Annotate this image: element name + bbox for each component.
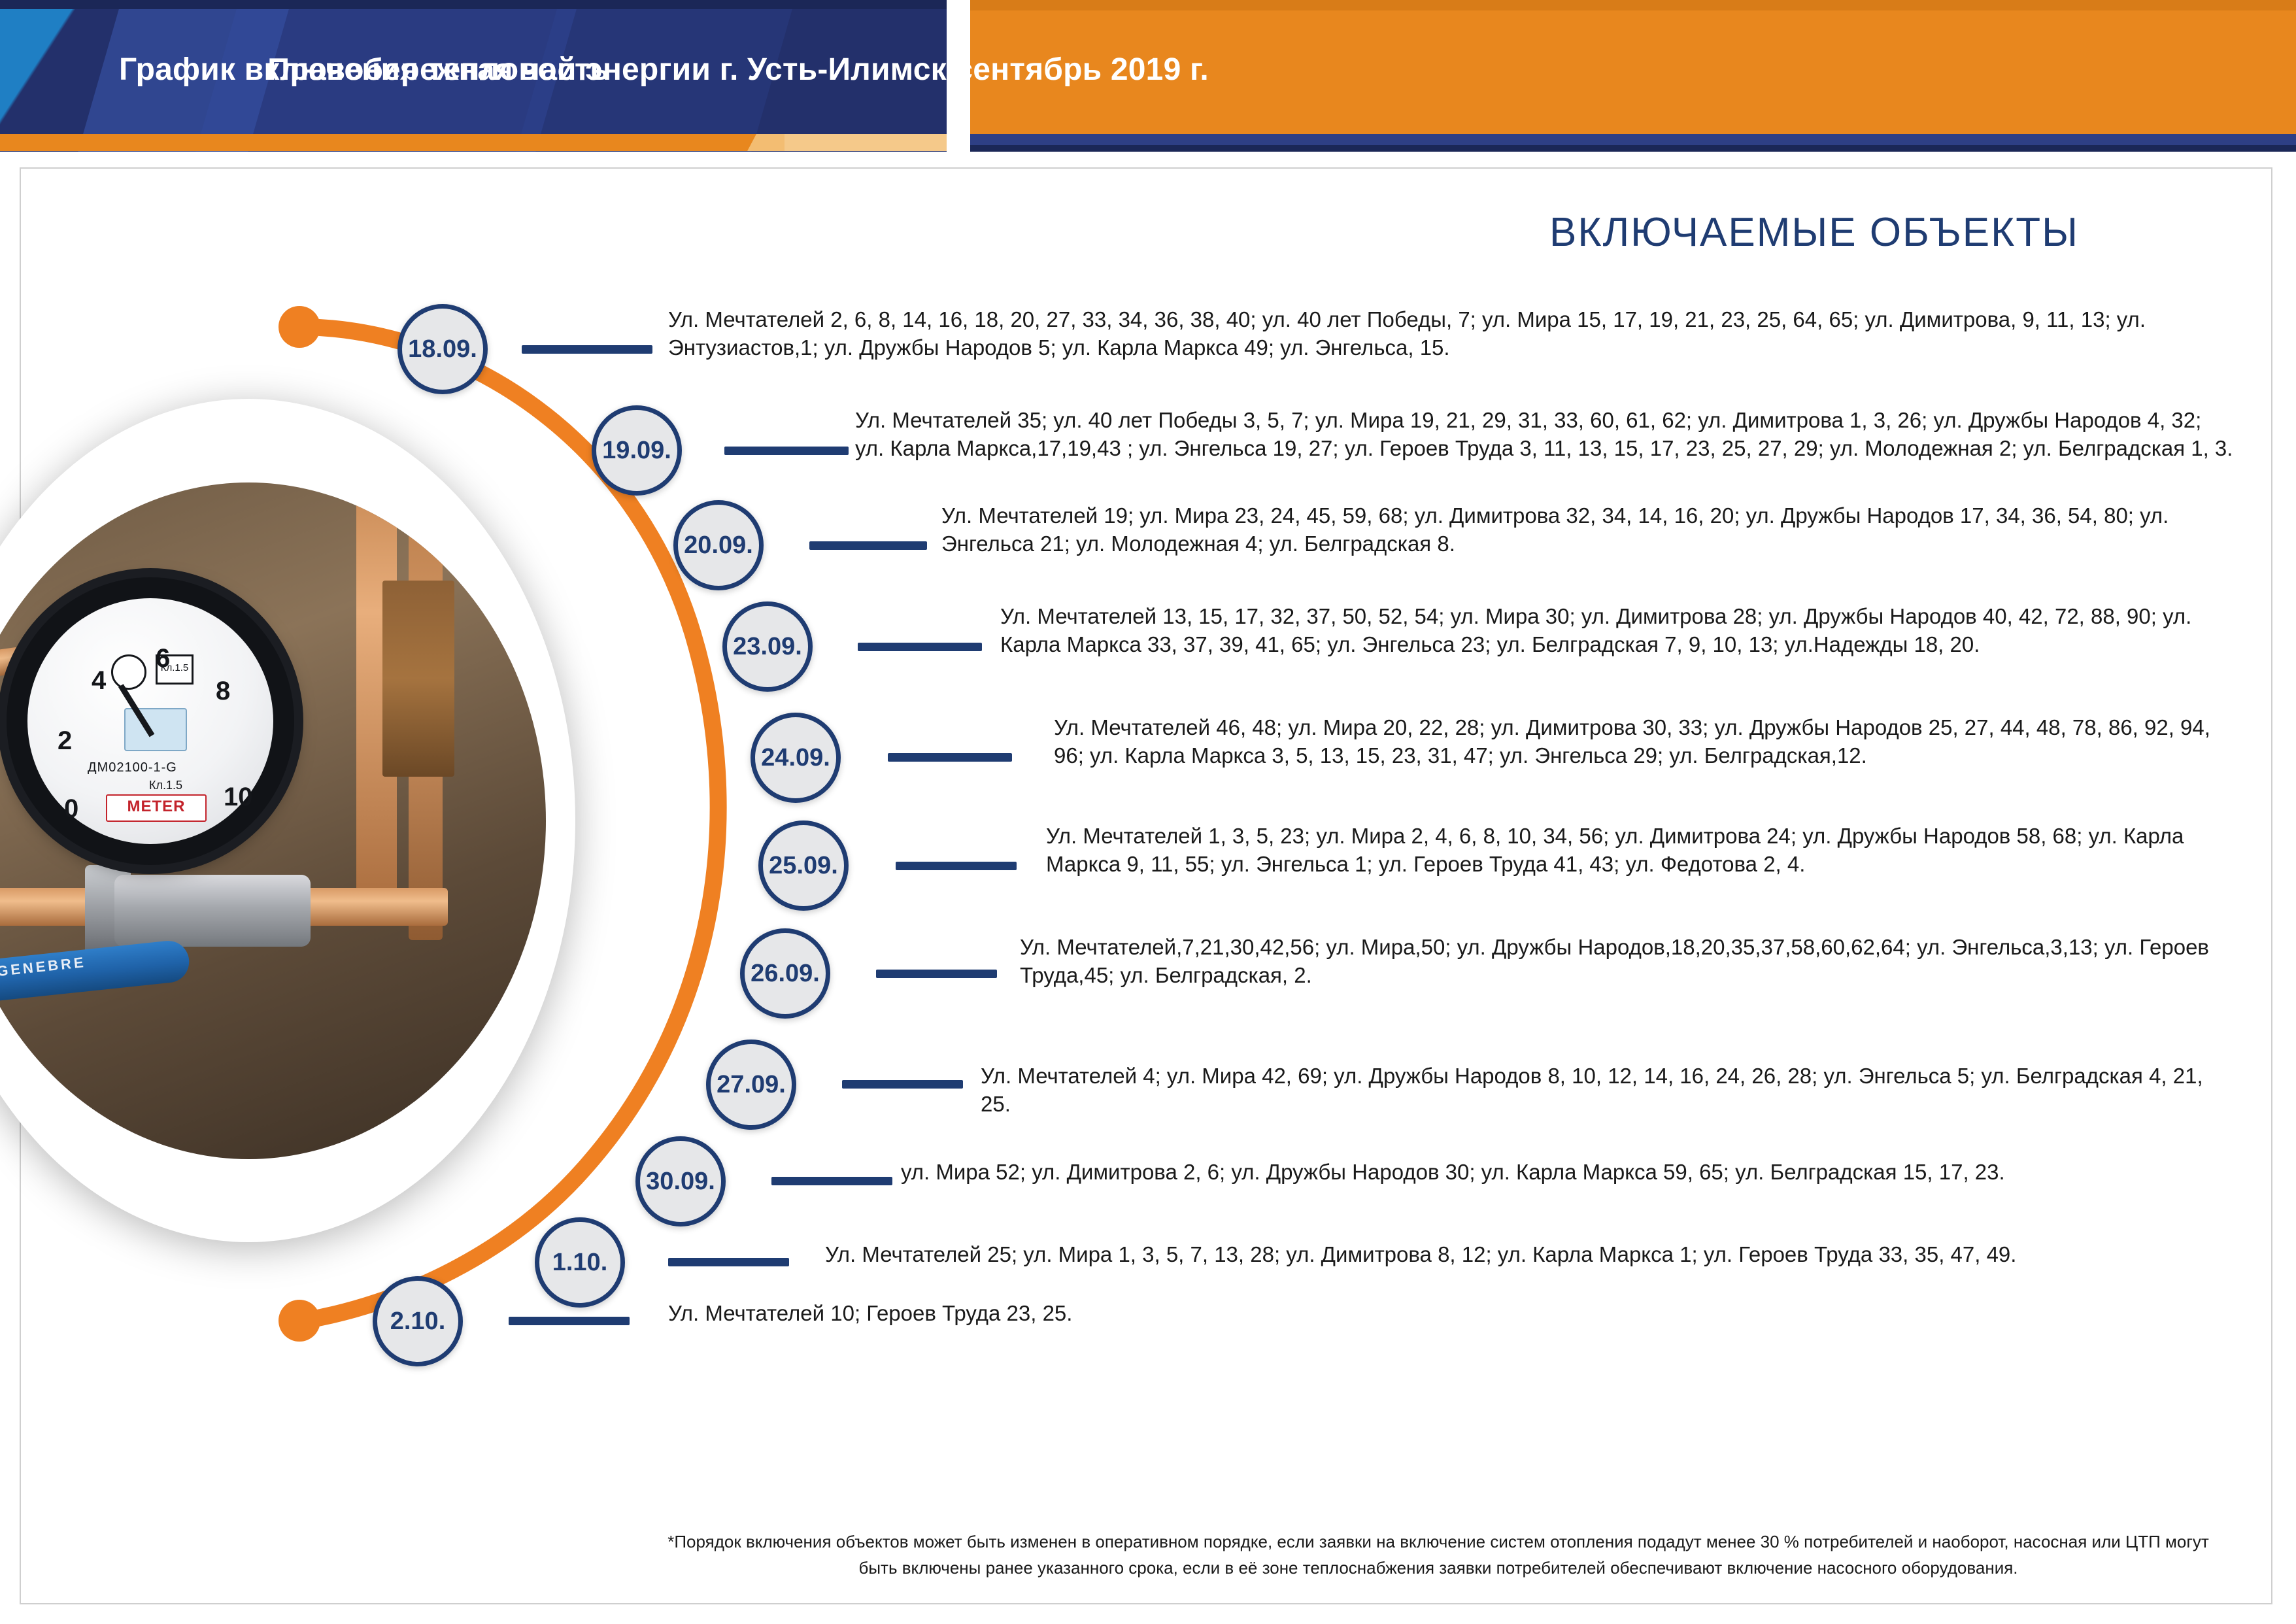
footnote-text: *Порядок включения объектов может быть и… <box>654 1529 2223 1582</box>
timeline-text-6: Ул. Мечтателей,7,21,30,42,56; ул. Мира,5… <box>1020 934 2236 990</box>
timeline-bubble-5[interactable]: 25.09. <box>758 820 849 911</box>
gauge-unit-window <box>124 708 187 751</box>
timeline-bubble-2[interactable]: 20.09. <box>673 500 764 590</box>
timeline-bubble-9[interactable]: 1.10. <box>535 1217 625 1308</box>
connector-dash-1 <box>724 447 849 455</box>
timeline-text-3: Ул. Мечтателей 13, 15, 17, 32, 37, 50, 5… <box>1000 603 2239 659</box>
timeline-bubble-7[interactable]: 27.09. <box>706 1040 796 1130</box>
timeline-text-8: ул. Мира 52; ул. Димитрова 2, 6; ул. Дру… <box>901 1159 2235 1187</box>
connector-dash-3 <box>858 643 982 651</box>
gauge-tick-6: 6 <box>156 644 170 673</box>
timeline-bubble-0[interactable]: 18.09. <box>397 304 488 394</box>
timeline-text-9: Ул. Мечтателей 25; ул. Мира 1, 3, 5, 7, … <box>825 1241 2231 1269</box>
gauge-logo-icon <box>111 654 146 690</box>
timeline-bubble-4[interactable]: 24.09. <box>751 713 841 803</box>
connector-dash-0 <box>522 345 652 354</box>
timeline-bubble-10[interactable]: 2.10. <box>373 1276 463 1366</box>
timeline-text-4: Ул. Мечтателей 46, 48; ул. Мира 20, 22, … <box>1054 714 2238 770</box>
timeline-text-10: Ул. Мечтателей 10; Героев Труда 23, 25. <box>668 1300 2231 1328</box>
gauge-tick-2: 2 <box>58 726 72 756</box>
timeline-bubble-8[interactable]: 30.09. <box>635 1136 726 1226</box>
gauge-tick-4: 4 <box>92 666 106 696</box>
timeline-bubble-6[interactable]: 26.09. <box>740 928 830 1019</box>
connector-dash-8 <box>771 1177 892 1185</box>
timeline-text-0: Ул. Мечтателей 2, 6, 8, 14, 16, 18, 20, … <box>668 306 2237 362</box>
timeline-text-2: Ул. Мечтателей 19; ул. Мира 23, 24, 45, … <box>941 502 2239 558</box>
connector-dash-4 <box>888 753 1012 762</box>
header-strip-orange <box>0 134 785 151</box>
connector-dash-7 <box>842 1080 963 1089</box>
header-strip-blue-dark <box>968 145 2296 152</box>
timeline-text-5: Ул. Мечтателей 1, 3, 5, 23; ул. Мира 2, … <box>1046 822 2236 879</box>
gauge-tick-8: 8 <box>216 677 230 706</box>
poster-root: Правобережная часть График включения теп… <box>0 0 2296 1624</box>
header-strip-orange-light <box>785 134 968 151</box>
connector-dash-10 <box>509 1317 630 1325</box>
timeline-text-7: Ул. Мечтателей 4; ул. Мира 42, 69; ул. Д… <box>981 1062 2236 1119</box>
connector-dash-2 <box>809 541 927 550</box>
connector-dash-9 <box>668 1258 789 1266</box>
gauge-tick-0: 0 <box>64 794 78 824</box>
arc-end-dot <box>279 1300 320 1342</box>
header-right-title: График включения тепловой энергии г. Уст… <box>0 0 1328 139</box>
timeline-bubble-1[interactable]: 19.09. <box>592 405 682 496</box>
page-title: ВКЛЮЧАЕМЫЕ ОБЪЕКТЫ <box>1399 209 2229 256</box>
timeline-bubble-3[interactable]: 23.09. <box>722 601 813 692</box>
connector-dash-5 <box>896 862 1017 870</box>
timeline-text-1: Ул. Мечтателей 35; ул. 40 лет Победы 3, … <box>855 407 2235 463</box>
gauge-class-text: Кл.1.5 <box>149 779 182 792</box>
gauge-model-text: ДМ02100-1-G <box>88 760 177 775</box>
gauge-brand-logo: METER <box>106 794 207 822</box>
arc-start-dot <box>279 306 320 348</box>
header-divider-notch <box>947 0 970 152</box>
connector-dash-6 <box>876 970 997 978</box>
gauge-dial-face: Кл.1.5 0 2 4 6 8 10 ДМ02100-1-G Кл.1.5 M… <box>27 598 273 844</box>
page-header: Правобережная часть График включения теп… <box>0 0 2296 152</box>
